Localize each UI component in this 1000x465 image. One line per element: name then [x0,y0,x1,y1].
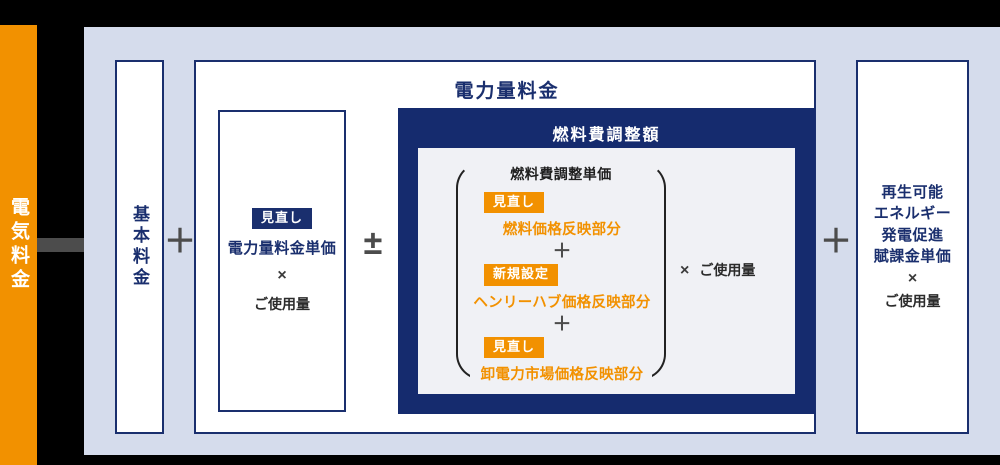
multiply-icon-renewable: × [908,267,917,291]
electricity-bill-label: 電気料金 [9,197,28,293]
energy-charge-title: 電力量料金 [196,76,818,103]
fuel-adjustment-inner: 燃料費調整単価 見直し 燃料価格反映部分 ＋ 新規設定 ヘンリーハブ価格反映部分… [418,148,795,394]
renewable-levy-line-3: 発電促進 [881,225,943,246]
badge-revision-unit-price: 見直し [252,208,312,229]
fuel-term-2: 新規設定 ヘンリーハブ価格反映部分 [466,264,658,311]
usage-label-unit-price: ご使用量 [254,294,310,314]
multiply-icon-unit-price: × [277,267,286,285]
energy-unit-price-label: 電力量料金単価 [228,237,337,258]
basic-charge-box: 基本料金 [115,60,164,434]
badge-revision-fuel-price: 見直し [484,192,544,213]
plus-operator-1: ＋ [164,225,196,257]
fuel-usage-group: ×ご使用量 [680,260,795,280]
badge-row-3: 見直し [466,337,658,358]
plus-operator-2: ＋ [818,225,854,257]
multiply-icon-fuel: × [680,262,689,279]
fuel-term-label-1: 燃料価格反映部分 [466,218,658,239]
plus-minus-operator: ± [352,226,394,260]
energy-unit-price-box: 見直し 電力量料金単価 × ご使用量 [218,110,346,412]
fuel-terms-list: 見直し 燃料価格反映部分 ＋ 新規設定 ヘンリーハブ価格反映部分 ＋ 見直し [466,192,658,384]
fuel-term-1: 見直し 燃料価格反映部分 [466,192,658,239]
fuel-term-separator-2: ＋ [466,315,658,334]
fuel-adjustment-title: 燃料費調整額 [398,121,815,145]
fuel-term-label-2: ヘンリーハブ価格反映部分 [466,291,658,312]
renewable-levy-box: 再生可能 エネルギー 発電促進 賦課金単価 × ご使用量 [856,60,969,434]
diagram-root: 電気料金 基本料金 ＋ 電力量料金 見直し 電力量料金単価 × ご使用量 ± 燃… [0,0,1000,465]
electricity-bill-tab: 電気料金 [0,25,37,465]
basic-charge-label: 基本料金 [131,205,148,289]
connector-dash [37,238,84,252]
renewable-levy-line-1: 再生可能 [881,182,943,203]
badge-revision-wholesale: 見直し [484,337,544,358]
badge-new-henry-hub: 新規設定 [484,264,558,285]
fuel-term-3: 見直し 卸電力市場価格反映部分 [466,337,658,384]
badge-row-2: 新規設定 [466,264,658,285]
fuel-unit-price-title: 燃料費調整単価 [456,164,666,184]
badge-row-1: 見直し [466,192,658,213]
renewable-levy-line-2: エネルギー [874,203,952,224]
fuel-term-label-3: 卸電力市場価格反映部分 [466,363,658,384]
fuel-term-separator-1: ＋ [466,242,658,261]
fuel-adjustment-box: 燃料費調整額 燃料費調整単価 見直し 燃料価格反映部分 ＋ 新規設定 ヘンリーハ… [398,108,815,414]
renewable-levy-line-4: 賦課金単価 [874,246,952,267]
usage-label-fuel: ご使用量 [699,262,755,278]
usage-label-renewable: ご使用量 [885,291,941,312]
